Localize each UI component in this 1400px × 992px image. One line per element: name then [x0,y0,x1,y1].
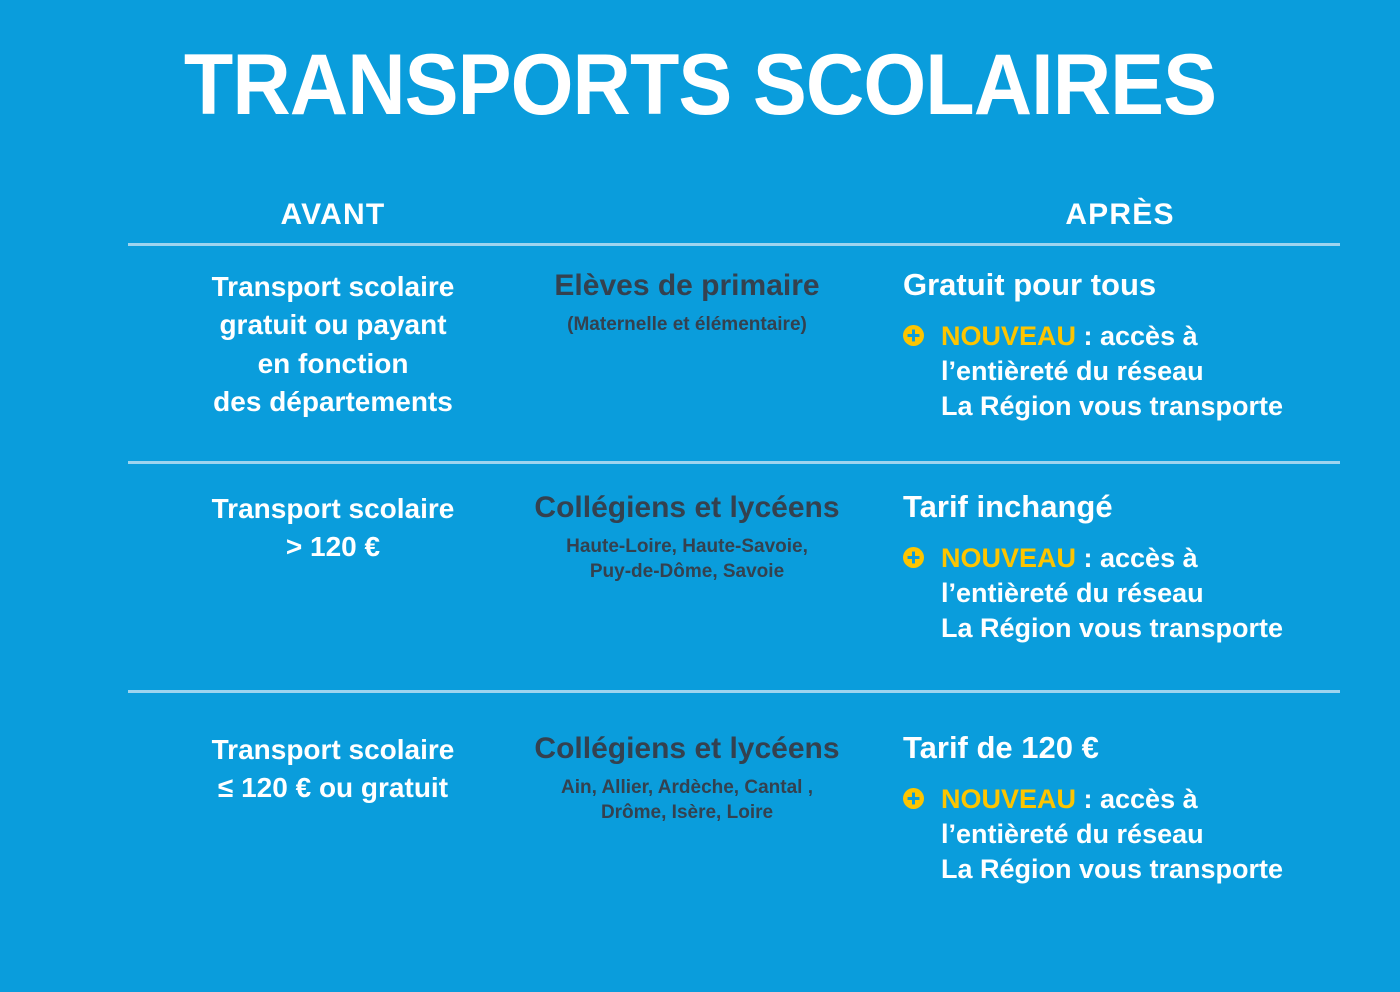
audience-detail: (Maternelle et élémentaire) [492,312,882,337]
new-feature-line-1: NOUVEAU : accès à [941,541,1353,576]
row-before-cell: Transport scolaire > 120 € [128,490,538,567]
new-badge-label: NOUVEAU [941,543,1076,573]
row-before-cell: Transport scolaire gratuit ou payant en … [128,268,538,421]
audience-title: Elèves de primaire [492,268,882,304]
after-title: Gratuit pour tous [903,268,1353,302]
after-title: Tarif de 120 € [903,731,1353,765]
before-text: Transport scolaire > 120 € [128,490,538,567]
new-feature-line-3: La Région vous transporte [941,611,1353,646]
new-feature-line-3: La Région vous transporte [941,389,1353,424]
new-feature-line-2: l’entièreté du réseau [941,354,1353,389]
plus-circle-icon [903,547,924,568]
before-text: Transport scolaire ≤ 120 € ou gratuit [128,731,538,808]
new-feature-text-1: : accès à [1076,784,1198,814]
row-before-cell: Transport scolaire ≤ 120 € ou gratuit [128,731,538,808]
new-feature-line-2: l’entièreté du réseau [941,576,1353,611]
audience-detail: Ain, Allier, Ardèche, Cantal , Drôme, Is… [492,775,882,825]
audience-title: Collégiens et lycéens [492,490,882,526]
new-feature-block: NOUVEAU : accès à l’entièreté du réseau … [903,319,1353,424]
new-feature-line-1: NOUVEAU : accès à [941,782,1353,817]
divider-top [128,243,1340,246]
after-title: Tarif inchangé [903,490,1353,524]
new-feature-line-1: NOUVEAU : accès à [941,319,1353,354]
column-header-after: APRÈS [900,200,1340,230]
divider-middle [128,461,1340,464]
new-badge-label: NOUVEAU [941,784,1076,814]
new-feature-line-3: La Région vous transporte [941,852,1353,887]
plus-circle-icon [903,788,924,809]
infographic-poster: TRANSPORTS SCOLAIRES AVANT APRÈS Transpo… [0,0,1400,992]
row-audience-cell: Collégiens et lycéens Haute-Loire, Haute… [492,490,882,584]
plus-circle-icon [903,325,924,346]
new-feature-line-2: l’entièreté du réseau [941,817,1353,852]
row-after-cell: Gratuit pour tous NOUVEAU : accès à l’en… [903,268,1353,424]
row-after-cell: Tarif de 120 € NOUVEAU : accès à l’entiè… [903,731,1353,887]
row-audience-cell: Elèves de primaire (Maternelle et élémen… [492,268,882,337]
new-feature-block: NOUVEAU : accès à l’entièreté du réseau … [903,782,1353,887]
audience-title: Collégiens et lycéens [492,731,882,767]
new-feature-text-1: : accès à [1076,321,1198,351]
page-title: TRANSPORTS SCOLAIRES [42,42,1358,128]
row-audience-cell: Collégiens et lycéens Ain, Allier, Ardèc… [492,731,882,825]
row-after-cell: Tarif inchangé NOUVEAU : accès à l’entiè… [903,490,1353,646]
column-header-before: AVANT [128,200,538,230]
before-text: Transport scolaire gratuit ou payant en … [128,268,538,421]
new-badge-label: NOUVEAU [941,321,1076,351]
new-feature-text-1: : accès à [1076,543,1198,573]
audience-detail: Haute-Loire, Haute-Savoie, Puy-de-Dôme, … [492,534,882,584]
divider-bottom [128,690,1340,693]
new-feature-block: NOUVEAU : accès à l’entièreté du réseau … [903,541,1353,646]
